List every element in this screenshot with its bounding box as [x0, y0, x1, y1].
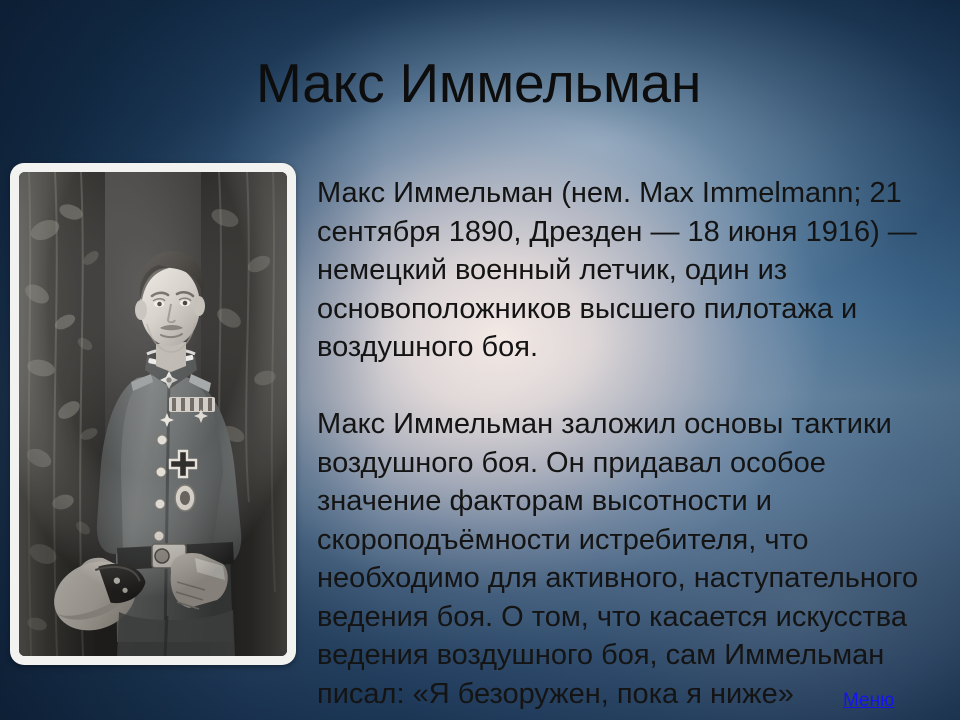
- slide-body-text: Макс Иммельман (нем. Max Immelmann; 21 с…: [317, 174, 949, 713]
- menu-link[interactable]: Меню: [843, 690, 894, 712]
- portrait-photo-image: [19, 172, 287, 656]
- slide-title: Макс Иммельман: [256, 52, 916, 114]
- presentation-slide: Макс Иммельман: [0, 0, 960, 720]
- paragraph-2: Макс Иммельман заложил основы тактики во…: [317, 405, 949, 713]
- paragraph-spacer: [317, 367, 949, 406]
- paragraph-1: Макс Иммельман (нем. Max Immelmann; 21 с…: [317, 174, 949, 367]
- portrait-photo: [19, 172, 287, 656]
- portrait-photo-frame: [10, 163, 296, 665]
